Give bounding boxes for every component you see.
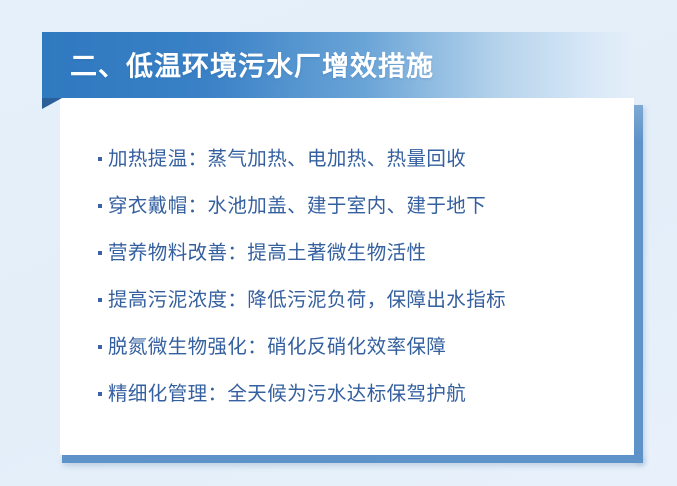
list-item-label: 提高污泥浓度：降低污泥负荷，保障出水指标: [108, 287, 506, 313]
slide-canvas: 加热提温：蒸气加热、电加热、热量回收 穿衣戴帽：水池加盖、建于室内、建于地下 营…: [0, 0, 677, 486]
bullet-dot-icon: [98, 204, 102, 208]
list-item-label: 加热提温：蒸气加热、电加热、热量回收: [108, 146, 466, 172]
list-item-label: 穿衣戴帽：水池加盖、建于室内、建于地下: [108, 193, 486, 219]
bullet-dot-icon: [98, 392, 102, 396]
bullet-dot-icon: [98, 298, 102, 302]
list-item: 精细化管理：全天候为污水达标保驾护航: [98, 381, 620, 407]
list-item-label: 脱氮微生物强化：硝化反硝化效率保障: [108, 334, 446, 360]
section-header-banner: 二、低温环境污水厂增效措施: [42, 32, 632, 98]
content-card: 加热提温：蒸气加热、电加热、热量回收 穿衣戴帽：水池加盖、建于室内、建于地下 营…: [60, 98, 634, 455]
card-bottom-accent-bar: [62, 455, 643, 463]
card-right-accent-bar: [634, 105, 643, 462]
list-item: 提高污泥浓度：降低污泥负荷，保障出水指标: [98, 287, 620, 313]
list-item-label: 精细化管理：全天候为污水达标保驾护航: [108, 381, 466, 407]
list-item: 脱氮微生物强化：硝化反硝化效率保障: [98, 334, 620, 360]
measures-list: 加热提温：蒸气加热、电加热、热量回收 穿衣戴帽：水池加盖、建于室内、建于地下 营…: [98, 146, 620, 407]
page-title: 二、低温环境污水厂增效措施: [70, 45, 434, 84]
list-item: 穿衣戴帽：水池加盖、建于室内、建于地下: [98, 193, 620, 219]
list-item: 加热提温：蒸气加热、电加热、热量回收: [98, 146, 620, 172]
bullet-dot-icon: [98, 345, 102, 349]
banner-fold-corner: [42, 98, 62, 109]
bullet-dot-icon: [98, 157, 102, 161]
list-item: 营养物料改善：提高土著微生物活性: [98, 240, 620, 266]
list-item-label: 营养物料改善：提高土著微生物活性: [108, 240, 426, 266]
bullet-dot-icon: [98, 251, 102, 255]
